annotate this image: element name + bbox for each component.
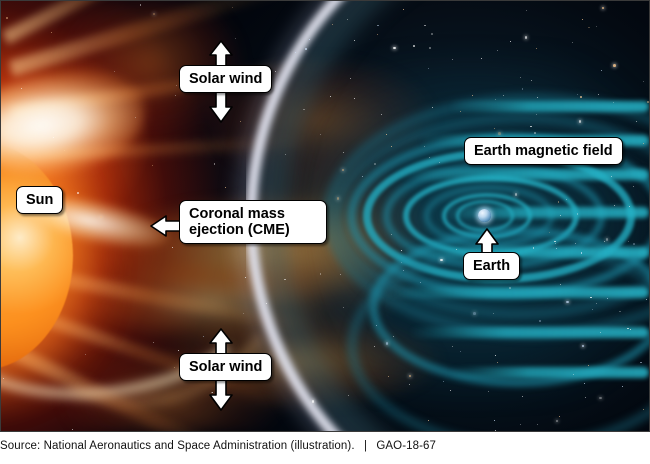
source-note: Source: National Aeronautics and Space A… [0,440,650,452]
star [114,71,115,72]
solar-wind-bottom-down-arrow-icon [206,379,236,411]
label-solar-wind-bottom: Solar wind [179,353,272,381]
solar-flare [0,61,152,184]
star [240,121,241,122]
figure-container: Sun Solar wind Coronal mass ejection (CM… [0,0,650,464]
magnetotail-band [384,287,649,298]
star [77,192,79,194]
label-earth-magnetic-field: Earth magnetic field [464,137,623,165]
source-prefix: Source: [0,440,40,452]
label-sun: Sun [16,186,63,214]
magnetotail-band [449,101,649,112]
magnetotail-band [404,247,649,258]
magnetotail-band [439,207,649,218]
label-earth: Earth [463,252,520,280]
magnetotail-band [449,367,649,378]
source-separator: | [358,440,373,452]
earth-globe [478,209,491,222]
label-solar-wind-top: Solar wind [179,65,272,93]
star [51,32,52,33]
star [152,165,153,166]
magnetotail-band [399,169,649,180]
star [153,13,156,16]
label-coronal-mass-ejection: Coronal mass ejection (CME) [179,200,327,244]
report-id: GAO-18-67 [376,440,436,452]
star [140,4,142,6]
cme-label-line-1: Coronal mass [189,206,285,222]
magnetotail-band [409,327,649,338]
star [214,163,216,165]
star [175,95,176,96]
nasa-illustration-image: Sun Solar wind Coronal mass ejection (CM… [0,0,650,432]
star [225,187,226,188]
star [6,17,8,19]
solar-wind-top-down-arrow-icon [206,91,236,123]
cme-label-line-2: ejection (CME) [189,222,290,238]
source-organization: National Aeronautics and Space Administr… [44,440,355,452]
star [72,429,73,430]
